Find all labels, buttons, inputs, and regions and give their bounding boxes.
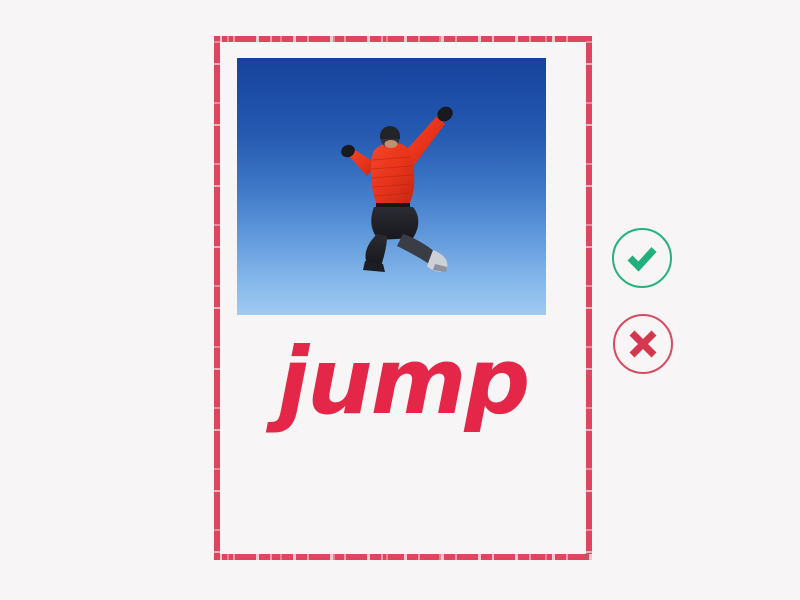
flashcard-screen: jump <box>0 0 800 600</box>
check-icon <box>625 241 659 275</box>
flashcard-image <box>237 58 546 315</box>
card-border-top <box>214 36 592 42</box>
card-border-left <box>214 36 220 560</box>
cross-icon <box>628 329 658 359</box>
correct-answer-button[interactable] <box>612 228 672 288</box>
card-border-bottom <box>214 554 592 560</box>
flashcard[interactable]: jump <box>214 36 592 560</box>
incorrect-answer-button[interactable] <box>613 314 673 374</box>
card-border-right <box>586 36 592 560</box>
flashcard-word: jump <box>214 336 592 428</box>
